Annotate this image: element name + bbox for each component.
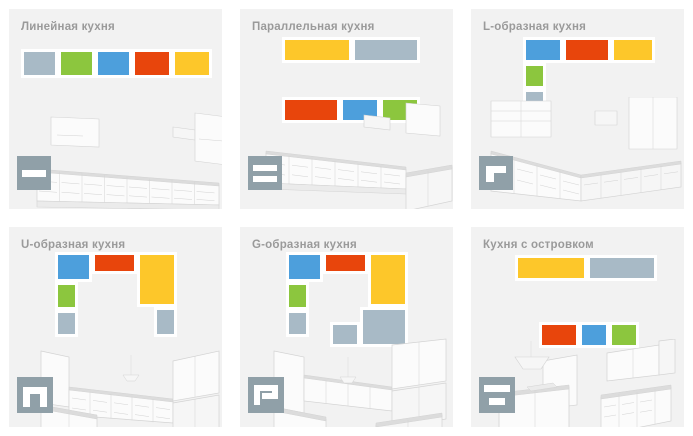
icon-bar-1 (253, 176, 277, 182)
schematic-block-yellow (611, 37, 655, 63)
schematic-block-green (380, 97, 420, 123)
schematic-block-orange (323, 252, 368, 274)
schematic-block-steel-left (55, 310, 78, 337)
schematic-block-yellow (137, 252, 177, 307)
schematic-block-blue (579, 322, 609, 348)
card-surface: Линейная кухня (9, 9, 222, 209)
schematic-block-green (58, 49, 95, 78)
icon-bar-3 (262, 393, 272, 399)
layout-parallel-icon[interactable] (248, 156, 282, 190)
icon-bar-1 (254, 385, 260, 405)
kitchen-layout-card-island[interactable]: Кухня с островком (462, 218, 693, 436)
schematic-block-steel-island (360, 307, 408, 347)
schematic-block-yellow (172, 49, 212, 78)
schematic-block-blue (523, 37, 563, 63)
schematic-block-green (609, 322, 639, 348)
schematic-block-orange (92, 252, 137, 274)
card-surface: U-образная кухня (9, 227, 222, 427)
card-surface: G-образная кухня (240, 227, 453, 427)
card-surface: Кухня с островком (471, 227, 684, 427)
icon-bar-0 (484, 385, 510, 392)
card-surface: L-образная кухня (471, 9, 684, 209)
icon-bar-1 (486, 166, 506, 173)
schematic-block-steel-left (286, 310, 309, 337)
schematic-block-steel (523, 89, 546, 119)
layout-u-shape-icon[interactable] (17, 377, 53, 413)
kitchen-layout-card-l-shape[interactable]: L-образная кухня (462, 0, 693, 218)
schematic-block-steel-right (154, 307, 177, 337)
schematic-block-green (286, 282, 309, 310)
schematic-block-orange (282, 97, 340, 123)
schematic-block-orange (132, 49, 172, 78)
icon-bar-2 (23, 387, 47, 394)
schematic-block-blue (95, 49, 132, 78)
schematic-block-orange (563, 37, 611, 63)
schematic-block-yellow (515, 255, 587, 281)
icon-bar-1 (489, 398, 505, 405)
card-surface: Параллельная кухня (240, 9, 453, 209)
schematic-block-yellow (282, 37, 352, 63)
schematic-block-steel (21, 49, 58, 78)
layout-g-shape-icon[interactable] (248, 377, 284, 413)
schematic-block-steel (587, 255, 657, 281)
schematic-block-steel-tail (330, 322, 360, 347)
schematic-block-blue (55, 252, 92, 282)
schematic-block-blue (340, 97, 380, 123)
schematic-block-steel (352, 37, 420, 63)
icon-bar-0 (22, 170, 46, 177)
icon-bar-2 (272, 385, 278, 399)
schematic-block-green (55, 282, 78, 310)
schematic-block-green (523, 63, 546, 89)
kitchen-layout-card-linear[interactable]: Линейная кухня (0, 0, 231, 218)
schematic-block-orange (539, 322, 579, 348)
layout-linear-icon[interactable] (17, 156, 51, 190)
kitchen-layout-card-u-shape[interactable]: U-образная кухня (0, 218, 231, 436)
layout-island-icon[interactable] (479, 377, 515, 413)
kitchen-layout-gallery: Линейная кухняПараллельная кухняL-образн… (0, 0, 693, 436)
icon-bar-0 (253, 165, 277, 171)
schematic-block-yellow (368, 252, 408, 307)
kitchen-layout-card-g-shape[interactable]: G-образная кухня (231, 218, 462, 436)
schematic-block-blue (286, 252, 323, 282)
kitchen-layout-card-parallel[interactable]: Параллельная кухня (231, 0, 462, 218)
layout-l-shape-icon[interactable] (479, 156, 513, 190)
